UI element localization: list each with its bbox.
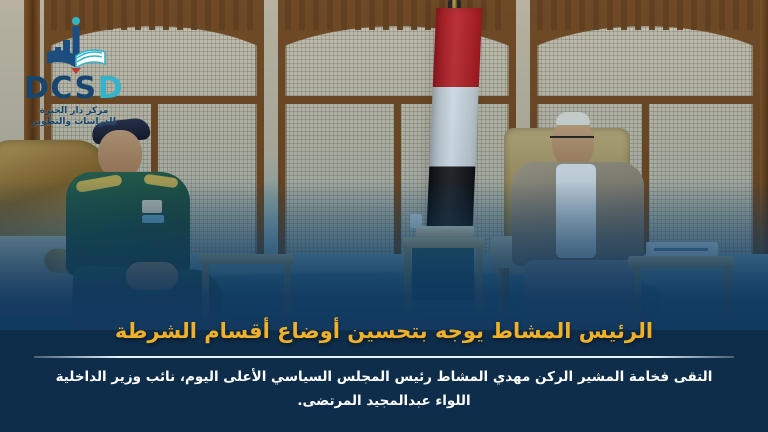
- logo-acronym: DCSD: [14, 74, 134, 104]
- subtitle: التقى فخامة المشير الركن مهدي المشاط رئي…: [52, 366, 716, 413]
- headline-divider: [34, 356, 734, 358]
- headline: الرئيس المشاط يوجه بتحسين أوضاع أقسام ال…: [0, 318, 768, 344]
- logo-acronym-primary: DCS: [24, 71, 98, 106]
- photo-bottom-fade: [0, 180, 768, 330]
- minaret-book-icon: [36, 16, 116, 76]
- news-card: DCSD مركز دار الخبرة للدراسات والتطوير ا…: [0, 0, 768, 432]
- logo-arabic-line-1: مركز دار الخبرة: [14, 106, 134, 117]
- logo-arabic-name: مركز دار الخبرة للدراسات والتطوير: [14, 106, 134, 129]
- logo-acronym-accent: D: [98, 71, 124, 106]
- logo-arabic-line-2: للدراسات والتطوير: [14, 117, 134, 128]
- dcsd-logo[interactable]: DCSD مركز دار الخبرة للدراسات والتطوير: [14, 16, 134, 128]
